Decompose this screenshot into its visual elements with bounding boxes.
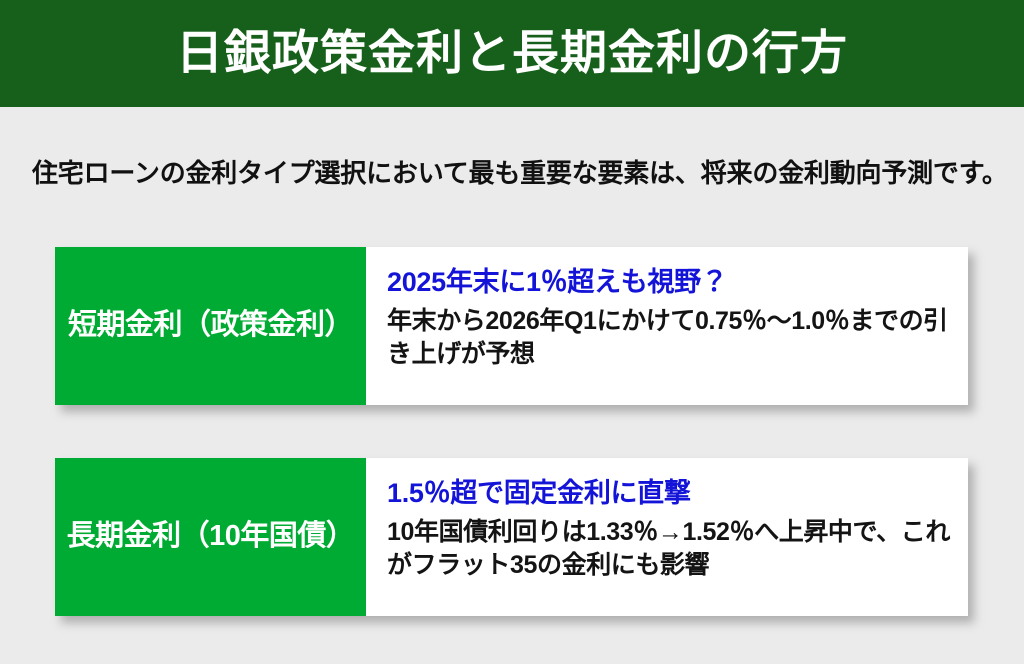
card-label-text: 長期金利（10年国債） (67, 521, 355, 553)
card-label-block: 長期金利（10年国債） (55, 458, 366, 616)
subtitle-text: 住宅ローンの金利タイプ選択において最も重要な要素は、将来の金利動向予測です。 (32, 157, 1012, 190)
card-heading: 1.5％超で固定金利に直撃 (387, 478, 952, 510)
rate-card-short-term: 短期金利（政策金利） 2025年末に1％超えも視野？ 年末から2026年Q1にか… (55, 247, 968, 405)
card-description: 年末から2026年Q1にかけて0.75％〜1.0％までの引き上げが予想 (387, 305, 952, 372)
page-title: 日銀政策金利と長期金利の行方 (176, 29, 848, 78)
card-label-text: 短期金利（政策金利） (68, 310, 353, 342)
card-body: 1.5％超で固定金利に直撃 10年国債利回りは1.33％→1.52％へ上昇中で、… (366, 458, 968, 616)
card-heading: 2025年末に1％超えも視野？ (387, 267, 952, 299)
card-label-block: 短期金利（政策金利） (55, 247, 366, 405)
card-body: 2025年末に1％超えも視野？ 年末から2026年Q1にかけて0.75％〜1.0… (366, 247, 968, 405)
card-description: 10年国債利回りは1.33％→1.52％へ上昇中で、これがフラット35の金利にも… (387, 516, 952, 583)
header-band: 日銀政策金利と長期金利の行方 (0, 0, 1024, 107)
rate-card-long-term: 長期金利（10年国債） 1.5％超で固定金利に直撃 10年国債利回りは1.33％… (55, 458, 968, 616)
